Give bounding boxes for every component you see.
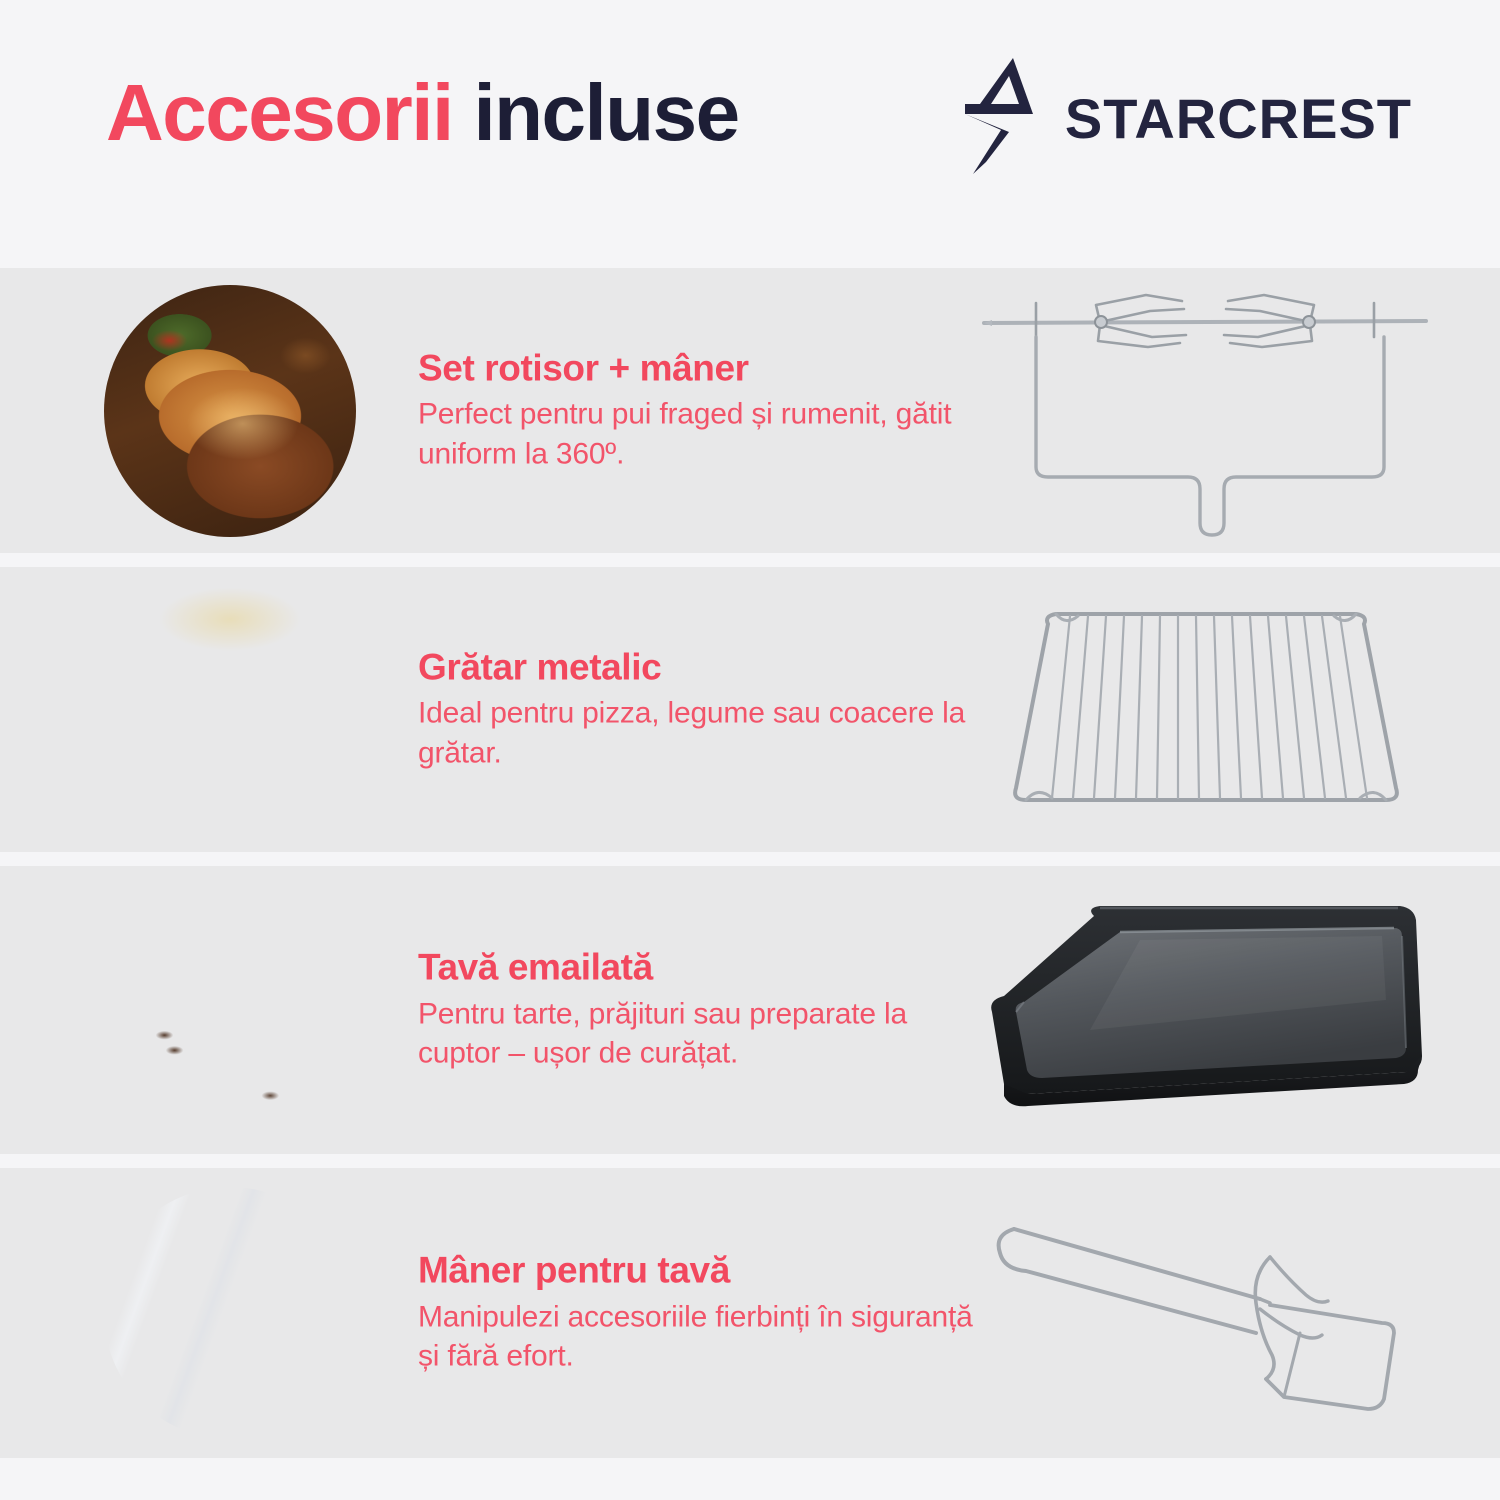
- accessory-title: Tavă emailată: [418, 946, 978, 989]
- rotisserie-spit-and-handle-image: [970, 281, 1440, 541]
- wire-grill-rack-image: [970, 580, 1440, 840]
- accessory-row: Tavă emailată Pentru tarte, prăjituri sa…: [0, 866, 1500, 1154]
- accessory-description: Perfect pentru pui fraged și rumenit, gă…: [418, 394, 978, 474]
- header: Accesorii incluse STARCREST: [0, 0, 1500, 268]
- pastries-photo: [104, 884, 356, 1136]
- accessory-title: Mâner pentru tavă: [418, 1249, 978, 1292]
- accessory-row: Set rotisor + mâner Perfect pentru pui f…: [0, 268, 1500, 553]
- page-title-rest: incluse: [473, 68, 738, 157]
- enamel-baking-tray-image: [970, 880, 1440, 1140]
- accessory-text: Set rotisor + mâner Perfect pentru pui f…: [418, 347, 978, 474]
- row-separator: [0, 1154, 1500, 1168]
- page-title: Accesorii incluse: [106, 73, 739, 153]
- accessory-row: Mâner pentru tavă Manipulezi accesoriile…: [0, 1168, 1500, 1458]
- accessory-title: Grătar metalic: [418, 646, 978, 689]
- accessory-description: Ideal pentru pizza, legume sau coacere l…: [418, 693, 978, 773]
- star-icon: [951, 52, 1071, 180]
- accessory-title: Set rotisor + mâner: [418, 347, 978, 390]
- oven-potatoes-photo: [104, 1187, 356, 1439]
- page-title-accent: Accesorii: [106, 68, 453, 157]
- accessory-description: Pentru tarte, prăjituri sau preparate la…: [418, 994, 978, 1074]
- tray-handle-tool-image: [970, 1183, 1440, 1443]
- accessory-row: Grătar metalic Ideal pentru pizza, legum…: [0, 567, 1500, 852]
- pizza-photo: [104, 584, 356, 836]
- brand-name: STARCREST: [1065, 91, 1412, 147]
- accessory-text: Grătar metalic Ideal pentru pizza, legum…: [418, 646, 978, 773]
- row-separator: [0, 852, 1500, 866]
- roasted-chicken-photo: [104, 285, 356, 537]
- row-separator: [0, 553, 1500, 567]
- accessory-text: Tavă emailată Pentru tarte, prăjituri sa…: [418, 946, 978, 1073]
- accessory-text: Mâner pentru tavă Manipulezi accesoriile…: [418, 1249, 978, 1376]
- brand-logo: STARCREST: [951, 52, 1412, 180]
- infographic-page: Accesorii incluse STARCREST Set rotisor …: [0, 0, 1500, 1500]
- accessory-description: Manipulezi accesoriile fierbinți în sigu…: [418, 1297, 978, 1377]
